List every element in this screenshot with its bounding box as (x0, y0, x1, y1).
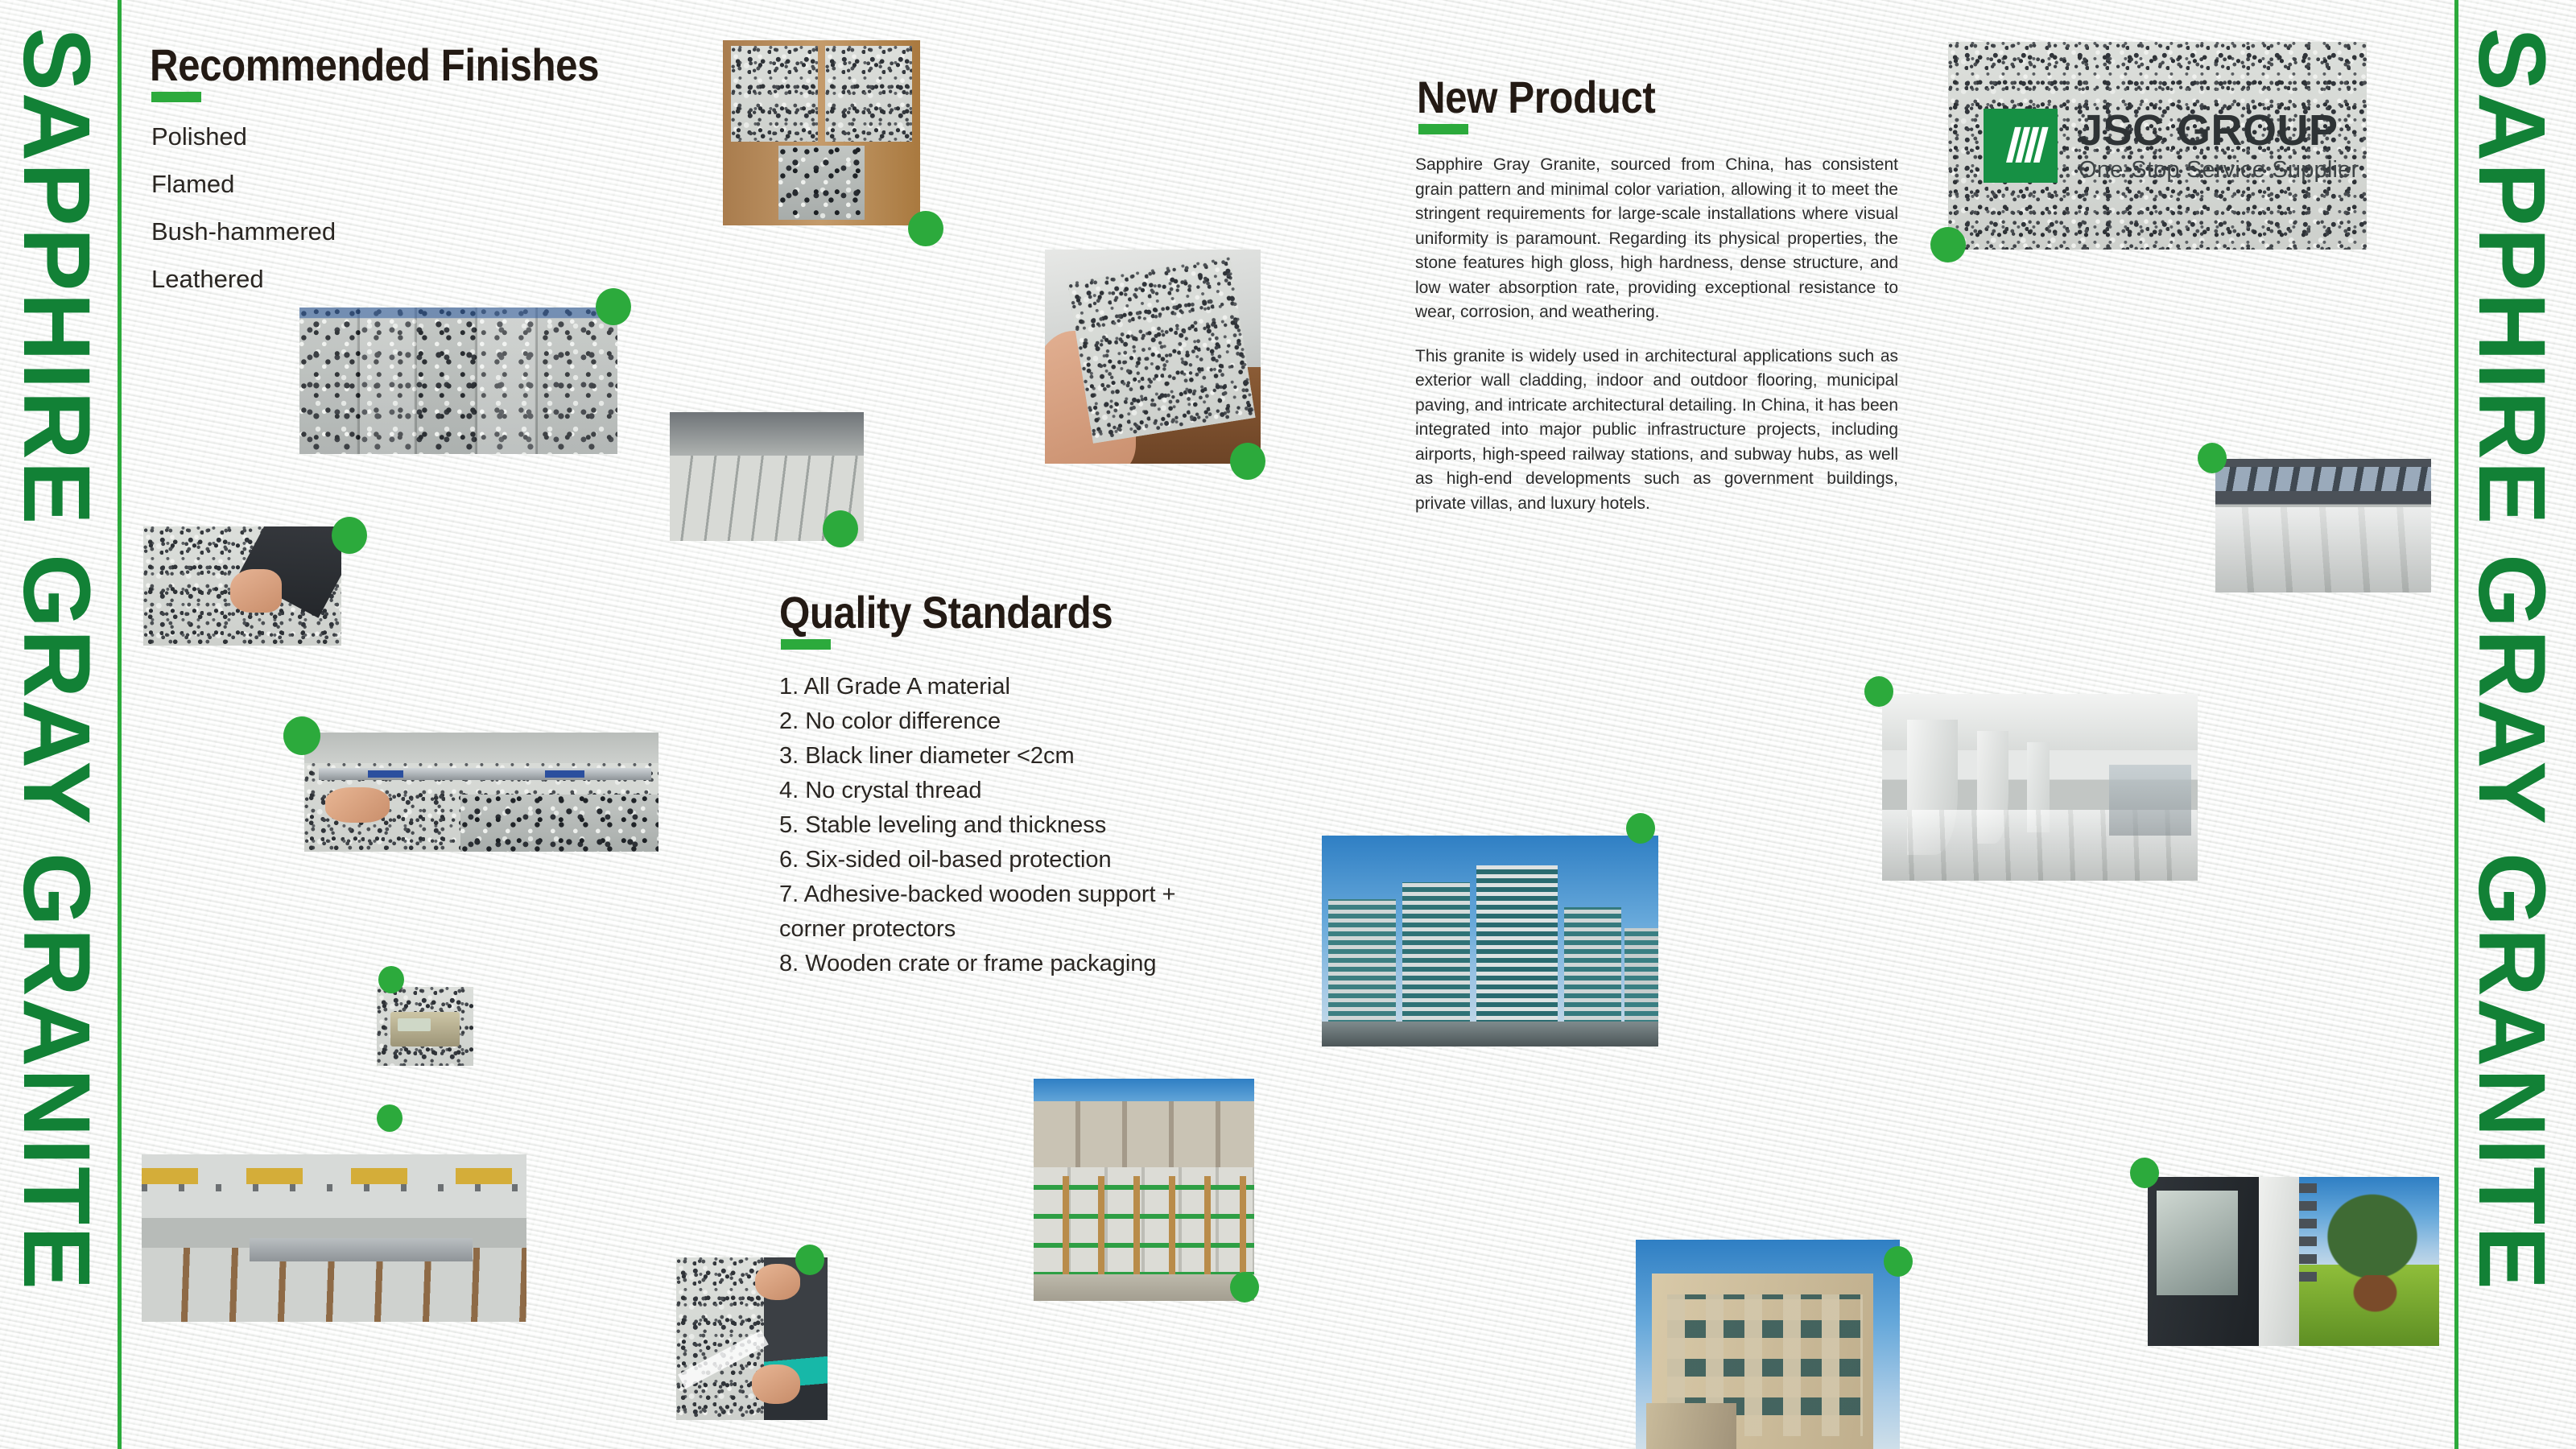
quality-item-6: 6. Six-sided oil-based protection (779, 843, 1214, 877)
new-product-paragraph-1: Sapphire Gray Granite, sourced from Chin… (1415, 153, 1898, 325)
quality-item-5: 5. Stable leveling and thickness (779, 808, 1214, 843)
quality-list: 1. All Grade A material 2. No color diff… (779, 670, 1214, 981)
finishes-accent-bar (151, 92, 201, 102)
photo-polished-slab-wall-display (299, 308, 617, 454)
new-product-body: Sapphire Gray Granite, sourced from Chin… (1415, 153, 1898, 516)
quality-item-1: 1. All Grade A material (779, 670, 1214, 704)
green-dot-office-building (1884, 1246, 1913, 1277)
finishes-list: Polished Flamed Bush-hammered Leathered (151, 113, 336, 303)
green-dot-subway-concourse (1864, 676, 1893, 707)
quality-accent-bar (781, 639, 831, 650)
green-dot-tile-stack (823, 510, 858, 547)
photo-hand-holding-granite-tile (1045, 250, 1261, 464)
finish-item-flamed: Flamed (151, 160, 336, 208)
finish-item-bush-hammered: Bush-hammered (151, 208, 336, 255)
vertical-title-left: SAPPHIRE GRAY GRANITE (9, 27, 104, 1291)
green-dot-tile-samples (908, 211, 943, 246)
photo-tile-samples-on-wood (723, 40, 920, 225)
green-dot-packed-crates (1230, 1272, 1259, 1302)
green-dot-villa-entrance (2130, 1158, 2159, 1188)
photo-villa-entrance-landscaping (2148, 1177, 2439, 1346)
right-title-band: SAPPHIRE GRAY GRANITE (2455, 0, 2576, 1449)
photo-gloss-meter-reading (377, 987, 473, 1066)
new-product-paragraph-2: This granite is widely used in architect… (1415, 345, 1898, 517)
photo-subway-station-concourse (1882, 694, 2198, 881)
photo-residential-high-rise-towers (1322, 836, 1658, 1046)
quality-item-8: 8. Wooden crate or frame packaging (779, 947, 1214, 981)
green-dot-logo-card (1930, 227, 1966, 262)
green-dot-gloss-meter (378, 966, 404, 993)
new-product-heading: New Product (1417, 71, 1655, 123)
green-dot-hand-granite (332, 517, 367, 554)
green-dot-slab-wall (596, 288, 631, 325)
jsc-logo-name: JSC GROUP (2079, 108, 2359, 154)
jsc-logo-tagline: One-Stop Service Supplier (2079, 157, 2359, 184)
photo-government-office-building (1636, 1240, 1900, 1449)
finishes-heading: Recommended Finishes (150, 39, 599, 91)
logo-card-background: ⅡⅡ JSC GROUP One-Stop Service Supplier (1948, 42, 2367, 250)
green-dot-workshop (377, 1104, 402, 1132)
quality-item-7: 7. Adhesive-backed wooden support + corn… (779, 877, 1214, 947)
photo-airport-terminal-floor (2215, 459, 2431, 592)
quality-item-4: 4. No crystal thread (779, 774, 1214, 808)
left-title-band: SAPPHIRE GRAY GRANITE (0, 0, 121, 1449)
green-dot-thickness-check (283, 716, 320, 755)
right-divider-rule (2454, 0, 2458, 1449)
finish-item-leathered: Leathered (151, 255, 336, 303)
quality-item-3: 3. Black liner diameter <2cm (779, 739, 1214, 774)
green-dot-hand-tile (1230, 443, 1265, 480)
photo-edge-inspection-hands (676, 1257, 828, 1420)
new-product-accent-bar (1418, 124, 1468, 134)
left-divider-rule (118, 0, 122, 1449)
photo-hand-touching-granite-surface (143, 526, 341, 646)
photo-thickness-check-with-ruler (304, 733, 658, 852)
photo-stone-workshop-interior (142, 1154, 526, 1322)
quality-item-2: 2. No color difference (779, 704, 1214, 739)
green-dot-airport-floor (2198, 443, 2227, 473)
finish-item-polished: Polished (151, 113, 336, 160)
vertical-title-right: SAPPHIRE GRAY GRANITE (2464, 27, 2559, 1291)
quality-heading: Quality Standards (779, 586, 1113, 638)
jsc-logo-mark-icon: ⅡⅡ (1984, 109, 2058, 183)
green-dot-edge-inspection (795, 1245, 824, 1275)
jsc-group-logo: ⅡⅡ JSC GROUP One-Stop Service Supplier (1948, 42, 2367, 250)
green-dot-high-rise (1626, 813, 1655, 844)
photo-packed-crates-in-yard (1034, 1079, 1254, 1301)
